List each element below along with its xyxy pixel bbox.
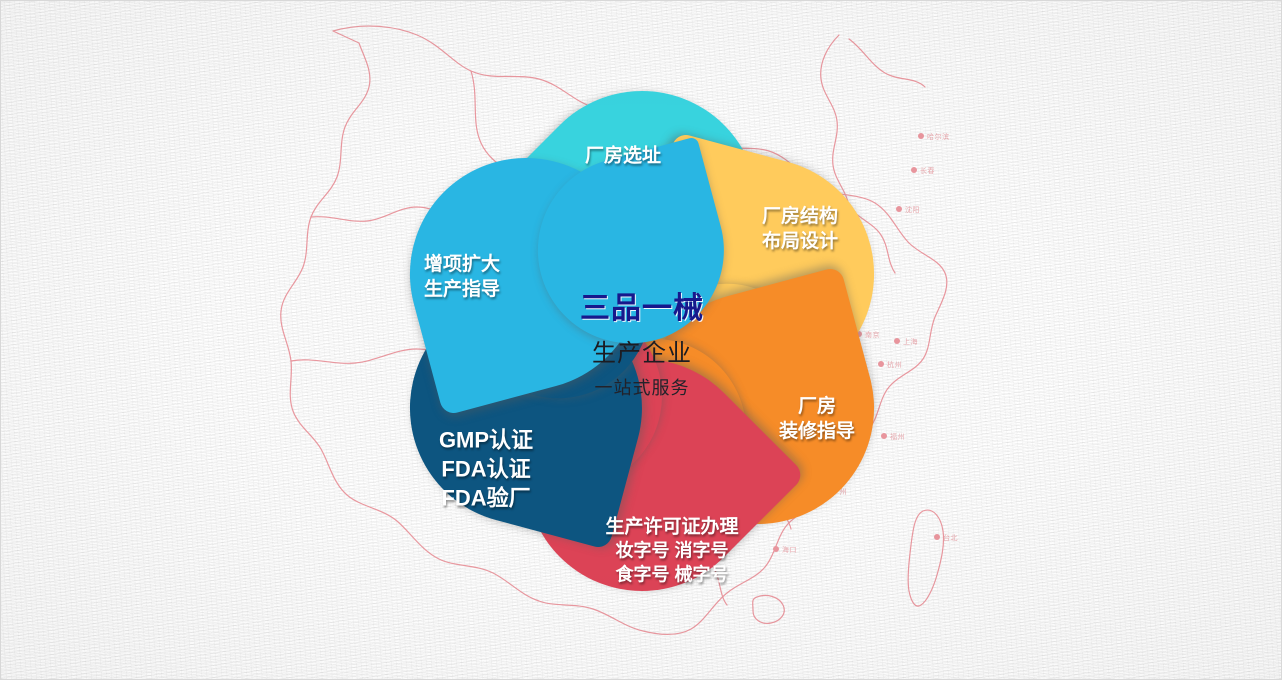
hub-subtitle: 生产企业 xyxy=(592,333,692,368)
infographic-canvas: 哈尔滨长春沈阳北京济南郑州南京上海杭州武汉福州台北广州海口 三品一械 xyxy=(0,0,1282,680)
hub-tagline: 一站式服务 xyxy=(595,374,690,400)
hub-title: 三品一械 xyxy=(580,283,704,327)
center-hub: 三品一械 生产企业 一站式服务 xyxy=(507,206,777,476)
six-petal-process-wheel: 三品一械 生产企业 一站式服务 xyxy=(282,41,1002,641)
